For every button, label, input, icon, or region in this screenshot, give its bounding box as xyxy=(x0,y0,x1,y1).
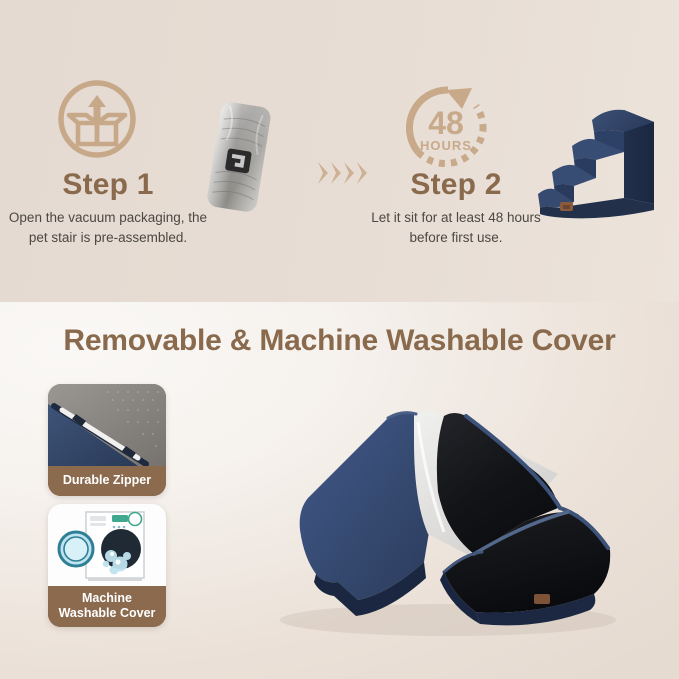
infographic-page: Step 1 Open the vacuum packaging, the pe… xyxy=(0,0,679,679)
washing-machine-icon xyxy=(48,504,166,586)
step-1-block: Step 1 Open the vacuum packaging, the pe… xyxy=(8,168,208,247)
step-1-description: Open the vacuum packaging, the pet stair… xyxy=(8,208,208,247)
badge-number: 48 xyxy=(428,105,464,141)
feature-label-line-2: Washable Cover xyxy=(59,606,156,620)
navy-pet-stair-photo xyxy=(528,98,660,224)
page-title: Removable & Machine Washable Cover xyxy=(0,324,679,358)
open-box-arrow-icon xyxy=(56,78,138,160)
steps-section: Step 1 Open the vacuum packaging, the pe… xyxy=(0,0,679,302)
feature-label-line-1: Machine xyxy=(82,591,132,605)
feature-label-machine-washable: Machine Washable Cover xyxy=(48,586,166,627)
pet-stair-with-cover-removed-photo xyxy=(238,382,634,640)
step-1-title: Step 1 xyxy=(8,168,208,202)
feature-card-durable-zipper: Durable Zipper xyxy=(48,384,166,496)
feature-card-machine-washable: Machine Washable Cover xyxy=(48,504,166,627)
zipper-closeup-photo xyxy=(48,384,166,466)
vacuum-packed-pet-stair-photo xyxy=(192,98,286,216)
feature-label-durable-zipper: Durable Zipper xyxy=(48,466,166,496)
48-hours-clock-icon: 48 HOURS xyxy=(400,82,496,174)
badge-unit: HOURS xyxy=(420,138,472,153)
